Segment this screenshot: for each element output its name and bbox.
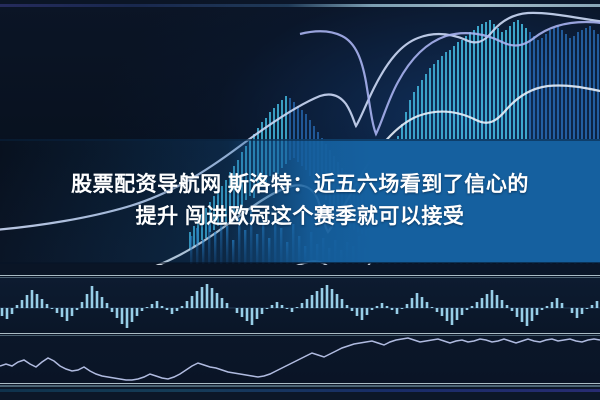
- headline-line-1: 股票配资导航网 斯洛特：近五六场看到了信心的: [71, 172, 529, 198]
- headline-text-block: 股票配资导航网 斯洛特：近五六场看到了信心的 提升 闯进欧冠这个赛季就可以接受: [0, 139, 600, 263]
- bottom-thin-rule: [0, 386, 600, 387]
- top-divider-rule: [0, 4, 600, 7]
- screenshot-canvas: 股票配资导航网 斯洛特：近五六场看到了信心的 提升 闯进欧冠这个赛季就可以接受: [0, 0, 600, 400]
- headline-line-2: 提升 闯进欧冠这个赛季就可以接受: [136, 204, 465, 230]
- macd-histogram-panel: [0, 278, 600, 333]
- trend-line-graphic: [0, 336, 600, 383]
- bottom-divider-rule: [0, 389, 600, 392]
- trend-line-panel: [0, 336, 600, 383]
- macd-histogram-graphic: [0, 278, 600, 333]
